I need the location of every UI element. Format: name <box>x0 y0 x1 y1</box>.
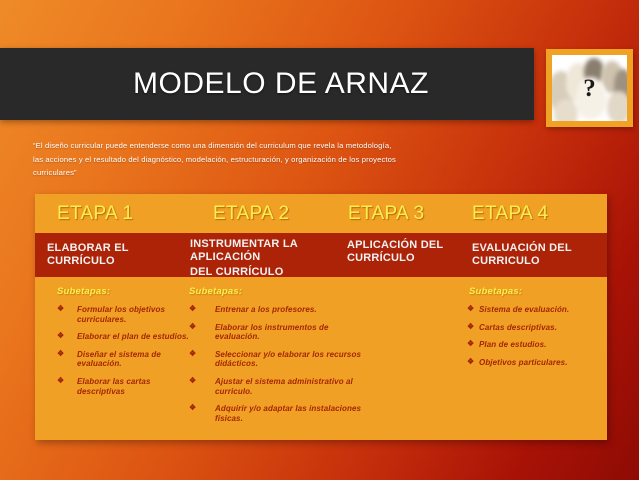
etapa-title-4: EVALUACIÓN DEL CURRICULO <box>472 242 572 267</box>
list-item-label: Diseñar el sistema de evaluación. <box>77 350 161 369</box>
bullet-icon: ❖ <box>57 376 64 386</box>
list-item: ❖Adquirir y/o adaptar las instalaciones … <box>187 404 367 423</box>
list-item: ❖Entrenar a los profesores. <box>187 305 367 315</box>
bullet-icon: ❖ <box>467 304 474 314</box>
list-item: ❖Elaborar las cartas descriptivas <box>55 377 195 396</box>
etapa-header-2: ETAPA 2 <box>213 203 289 225</box>
bullet-icon: ❖ <box>189 376 196 386</box>
etapa-column-3 <box>370 277 465 440</box>
list-item-label: Cartas descriptivas. <box>479 323 557 332</box>
etapa-column-2: Subetapas: ❖Entrenar a los profesores.❖E… <box>187 277 367 440</box>
list-item-label: Adquirir y/o adaptar las instalaciones f… <box>215 404 361 423</box>
question-mark-people-icon: ? <box>552 55 627 121</box>
etapa-title-3: APLICACIÓN DEL CURRÍCULO <box>347 239 443 264</box>
bullet-icon: ❖ <box>467 339 474 349</box>
bullet-icon: ❖ <box>57 331 64 341</box>
list-item-label: Elaborar las cartas descriptivas <box>77 377 151 396</box>
title-bar: MODELO DE ARNAZ <box>0 48 534 120</box>
quote-text: “El diseño curricular puede entenderse c… <box>33 139 401 180</box>
list-item: ❖Elaborar el plan de estudios. <box>55 332 195 342</box>
list-item: ❖Plan de estudios. <box>467 340 602 350</box>
etapa-title-2: INSTRUMENTAR LA APLICACIÓN <box>190 238 298 263</box>
etapa-title-row: ELABORAR EL CURRÍCULO INSTRUMENTAR LA AP… <box>35 233 607 277</box>
bullet-icon: ❖ <box>57 349 64 359</box>
subetapas-list-2: ❖Entrenar a los profesores.❖Elaborar los… <box>187 305 367 423</box>
bullet-icon: ❖ <box>189 403 196 413</box>
list-item-label: Ajustar el sistema administrativo al cur… <box>215 377 353 396</box>
thumbnail-card: ? <box>546 49 633 127</box>
list-item-label: Objetivos particulares. <box>479 358 568 367</box>
etapa-header-row: ETAPA 1 ETAPA 2 ETAPA 3 ETAPA 4 <box>35 194 607 233</box>
etapa-header-1: ETAPA 1 <box>57 203 133 225</box>
list-item-label: Entrenar a los profesores. <box>215 305 317 314</box>
bullet-icon: ❖ <box>189 304 196 314</box>
list-item: ❖Elaborar los instrumentos de evaluación… <box>187 323 367 342</box>
subetapas-list-1: ❖Formular los objetivos curriculares.❖El… <box>55 305 195 396</box>
subetapas-label-4: Subetapas: <box>469 286 602 297</box>
list-item-label: Elaborar los instrumentos de evaluación. <box>215 323 329 342</box>
list-item-label: Elaborar el plan de estudios. <box>77 332 189 341</box>
etapa-column-4: Subetapas: ❖Sistema de evaluación.❖Carta… <box>467 277 602 440</box>
etapa-content-row: Subetapas: ❖Formular los objetivos curri… <box>35 277 607 440</box>
list-item-label: Sistema de evaluación. <box>479 305 569 314</box>
etapa-header-4: ETAPA 4 <box>472 203 548 225</box>
bullet-icon: ❖ <box>57 304 64 314</box>
list-item: ❖Formular los objetivos curriculares. <box>55 305 195 324</box>
list-item: ❖Objetivos particulares. <box>467 358 602 368</box>
bullet-icon: ❖ <box>467 357 474 367</box>
subetapas-list-4: ❖Sistema de evaluación.❖Cartas descripti… <box>467 305 602 367</box>
list-item: ❖Seleccionar y/o elaborar los recursos d… <box>187 350 367 369</box>
list-item: ❖Ajustar el sistema administrativo al cu… <box>187 377 367 396</box>
subetapas-label-2: Subetapas: <box>189 286 367 297</box>
bullet-icon: ❖ <box>189 349 196 359</box>
etapa-header-3: ETAPA 3 <box>348 203 424 225</box>
list-item: ❖Diseñar el sistema de evaluación. <box>55 350 195 369</box>
etapa-title-1: ELABORAR EL CURRÍCULO <box>47 242 129 267</box>
list-item: ❖Sistema de evaluación. <box>467 305 602 315</box>
list-item-label: Seleccionar y/o elaborar los recursos di… <box>215 350 361 369</box>
question-mark-glyph: ? <box>583 75 596 103</box>
subetapas-label-1: Subetapas: <box>57 286 195 297</box>
list-item-label: Formular los objetivos curriculares. <box>77 305 165 324</box>
etapa-column-1: Subetapas: ❖Formular los objetivos curri… <box>45 277 195 440</box>
bullet-icon: ❖ <box>189 322 196 332</box>
page-title: MODELO DE ARNAZ <box>0 67 534 101</box>
bullet-icon: ❖ <box>467 322 474 332</box>
etapas-table: ETAPA 1 ETAPA 2 ETAPA 3 ETAPA 4 ELABORAR… <box>35 194 607 440</box>
list-item: ❖Cartas descriptivas. <box>467 323 602 333</box>
list-item-label: Plan de estudios. <box>479 340 547 349</box>
